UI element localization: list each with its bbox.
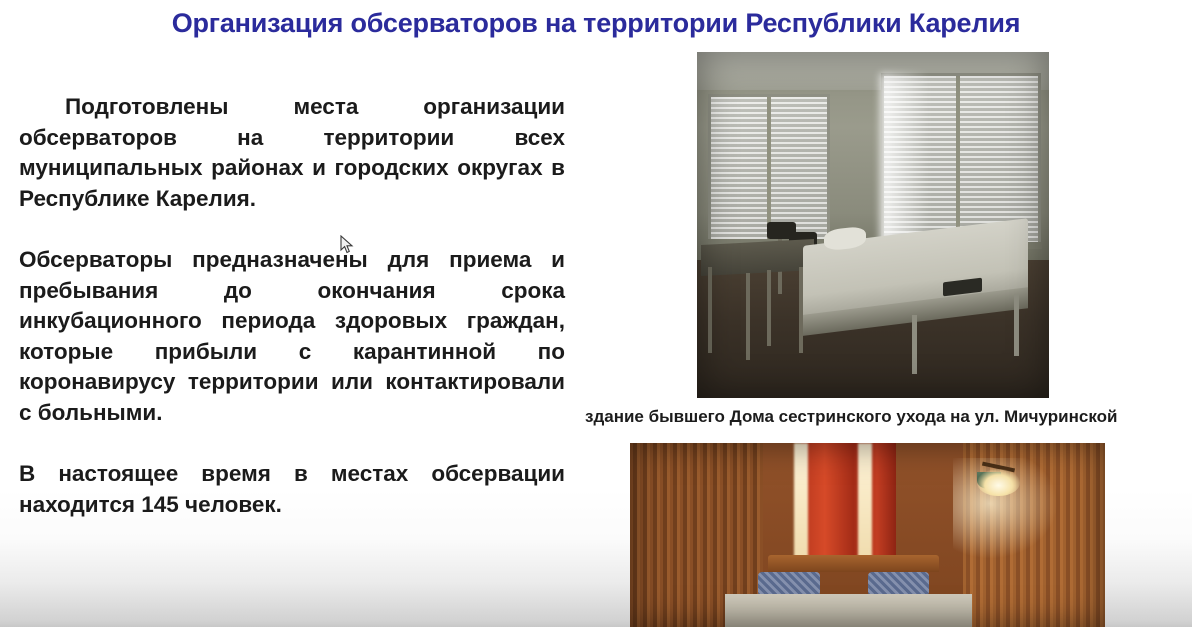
- page-title: Организация обсерваторов на территории Р…: [0, 8, 1192, 39]
- hospital-room-art: [697, 52, 1049, 398]
- photo-caption: здание бывшего Дома сестринского ухода н…: [585, 407, 1185, 427]
- paragraph-3: В настоящее время в местах обсервации на…: [19, 459, 565, 520]
- body-text-column: Подготовлены места организации обсервато…: [19, 92, 565, 520]
- mouse-pointer-icon: [340, 235, 354, 255]
- paragraph-1: Подготовлены места организации обсервато…: [19, 92, 565, 214]
- photo-vignette: [630, 443, 1105, 627]
- wood-bedroom-photo: [630, 443, 1105, 627]
- paragraph-2: Обсерваторы предназначены для приема и п…: [19, 245, 565, 428]
- photo-vignette: [697, 52, 1049, 398]
- wood-bedroom-art: [630, 443, 1105, 627]
- slide-canvas: Организация обсерваторов на территории Р…: [0, 0, 1192, 627]
- hospital-room-photo: [697, 52, 1049, 398]
